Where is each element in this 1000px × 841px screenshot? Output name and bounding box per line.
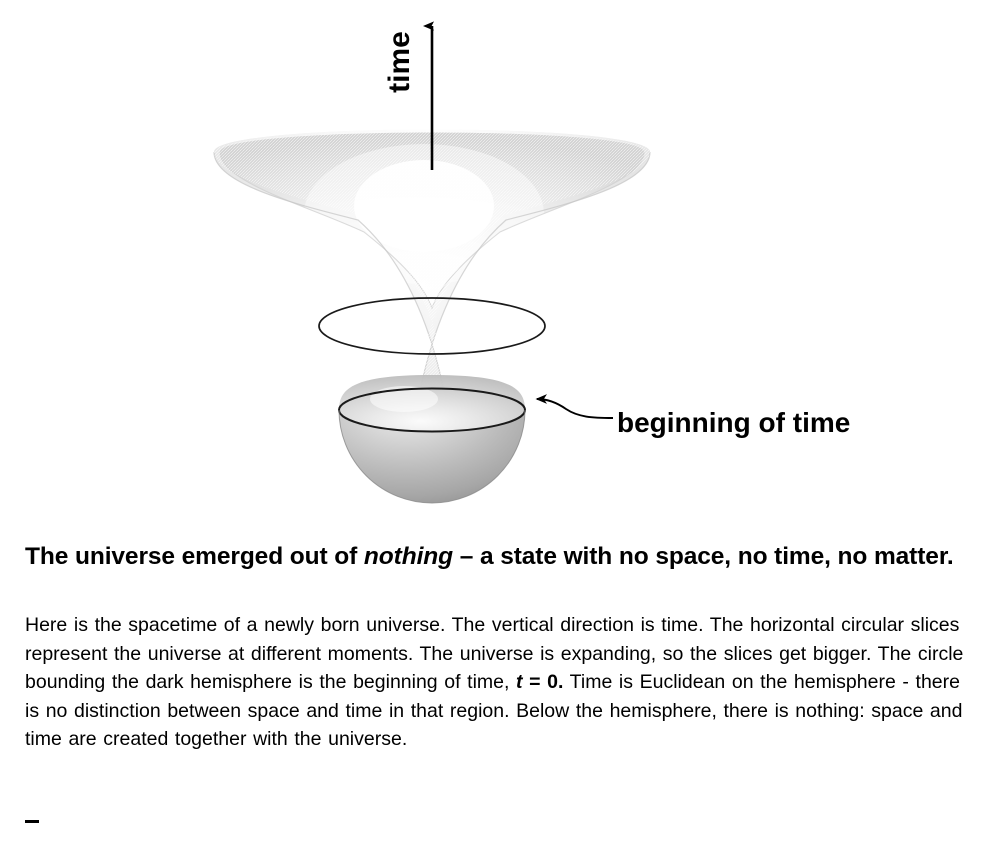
text-content: The universe emerged out of nothing – a … xyxy=(25,541,975,754)
heading-emphasis-nothing: nothing xyxy=(364,543,453,570)
beginning-of-time-callout: beginning of time xyxy=(537,399,850,438)
page-title: The universe emerged out of nothing – a … xyxy=(25,541,955,572)
heading-part-2: – a state with no space, no time, no mat… xyxy=(453,543,954,570)
trailing-dash-mark xyxy=(25,820,39,823)
t-value: = 0. xyxy=(523,671,564,693)
callout-leader-line xyxy=(537,399,613,418)
time-axis-label: time xyxy=(383,31,416,93)
diagram-svg: time beginning of time xyxy=(0,0,1000,520)
euclidean-hemisphere xyxy=(339,375,525,503)
t-equals-zero: t = 0. xyxy=(516,671,563,693)
page-root: time beginning of time The universe emer… xyxy=(0,0,1000,841)
heading-part-1: The universe emerged out of xyxy=(25,543,364,570)
callout-label: beginning of time xyxy=(617,407,850,438)
body-paragraph: Here is the spacetime of a newly born un… xyxy=(25,572,977,754)
spacetime-diagram: time beginning of time xyxy=(0,0,1000,520)
